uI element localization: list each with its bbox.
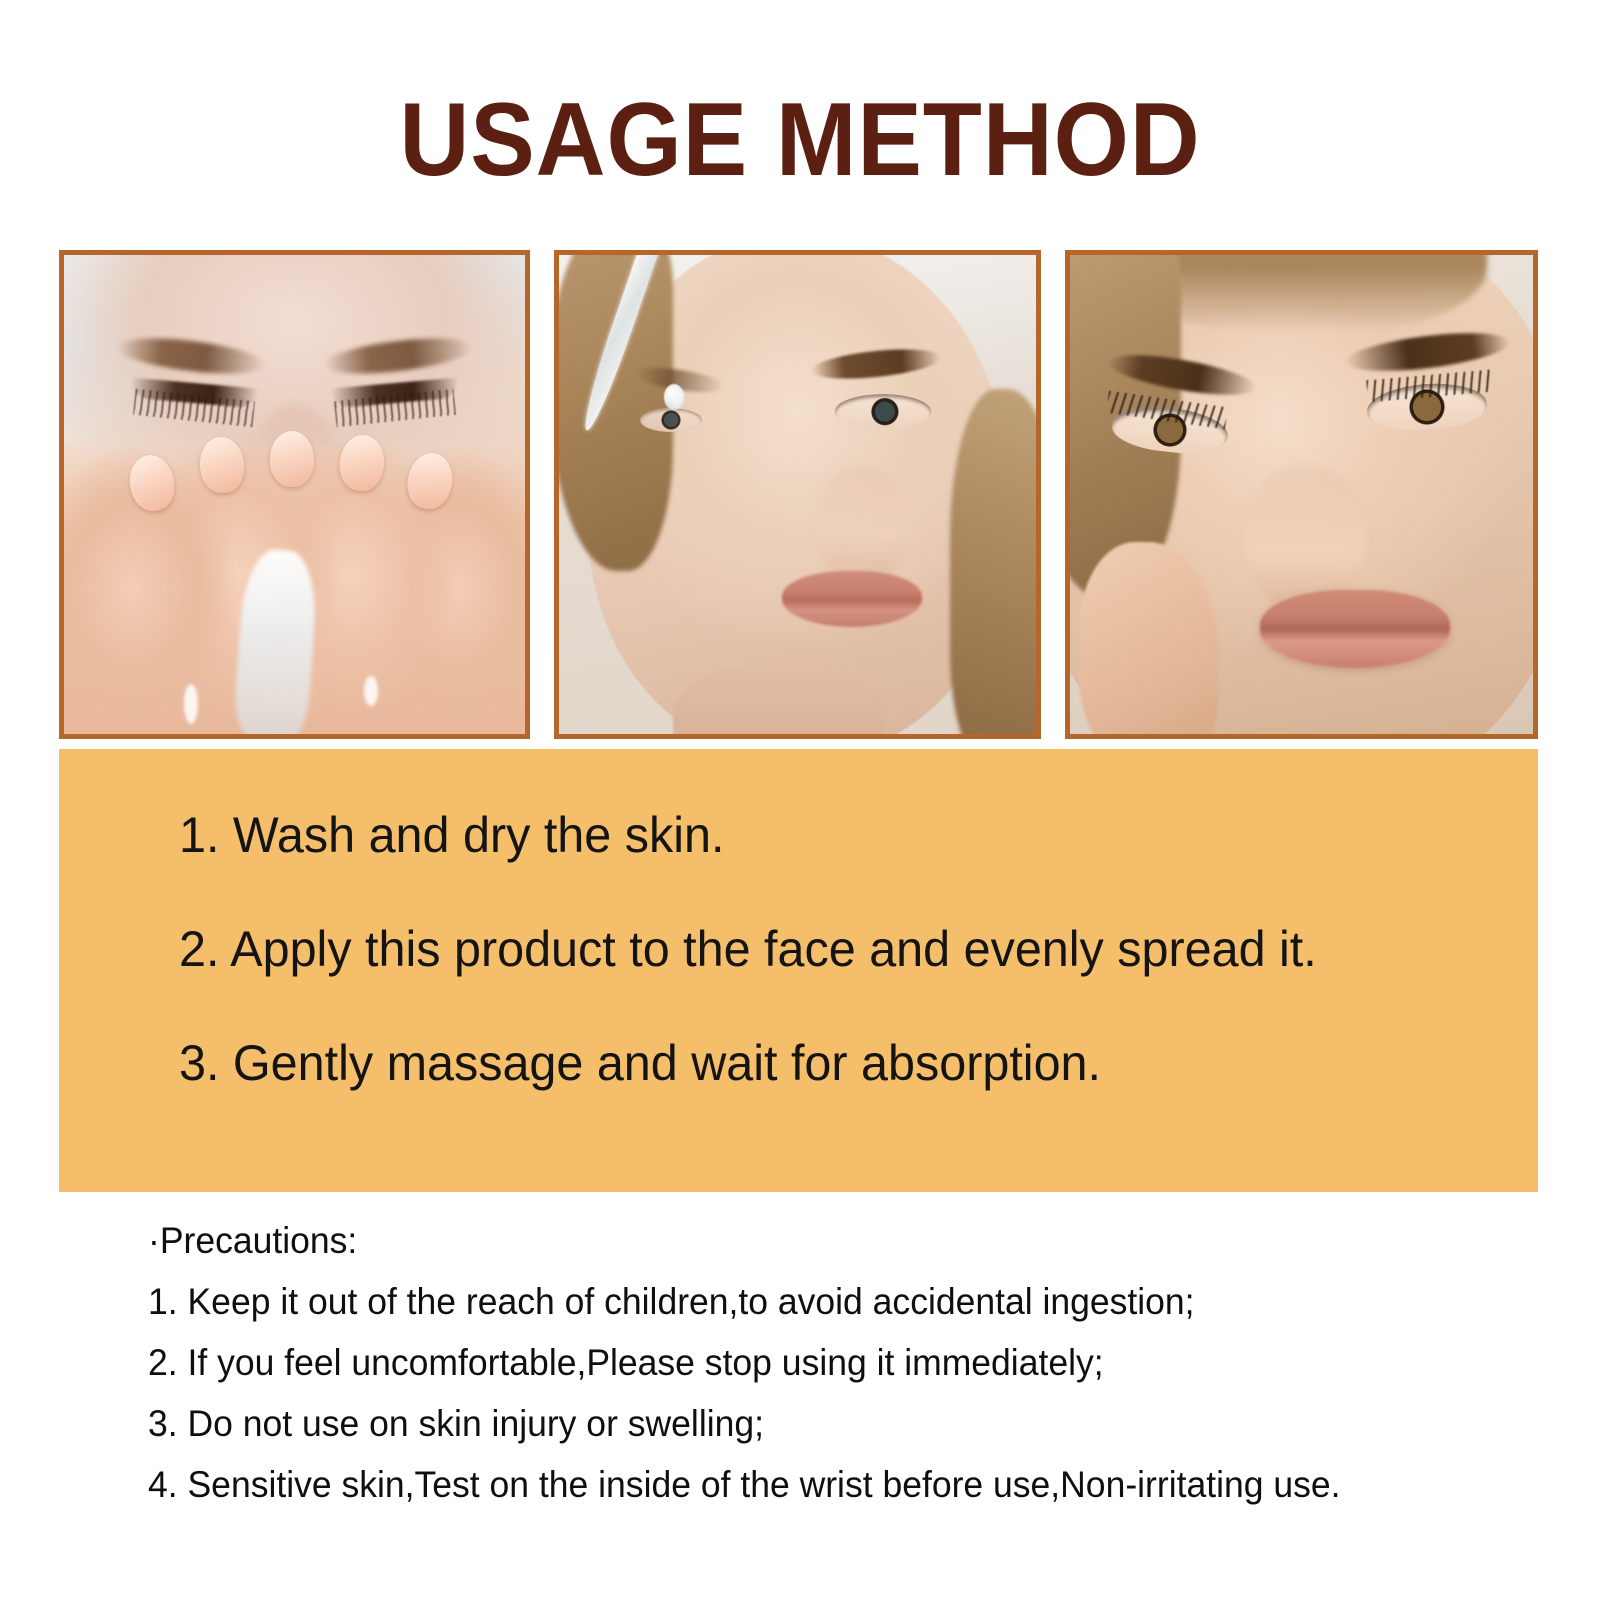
photo-strip [59,250,1538,739]
precautions-heading: ·Precautions: [148,1218,1492,1264]
photo-panel-wash-face [59,250,530,739]
precaution-item-3: 3. Do not use on skin injury or swelling… [148,1401,1492,1447]
precaution-item-4: 4. Sensitive skin,Test on the inside of … [148,1462,1492,1508]
precautions-section: ·Precautions: 1. Keep it out of the reac… [148,1218,1548,1508]
usage-method-page: USAGE METHOD [0,0,1600,1600]
precaution-item-1: 1. Keep it out of the reach of children,… [148,1279,1492,1325]
photo-glowing-skin-illustration [1070,255,1533,734]
usage-step-1: 1. Wash and dry the skin. [179,805,1497,865]
photo-panel-glowing-skin [1065,250,1538,739]
usage-step-3: 3. Gently massage and wait for absorptio… [179,1033,1497,1093]
precaution-item-2: 2. If you feel uncomfortable,Please stop… [148,1340,1492,1386]
usage-steps-block: 1. Wash and dry the skin. 2. Apply this … [59,749,1538,1192]
photo-panel-apply-serum [554,250,1041,739]
usage-step-2: 2. Apply this product to the face and ev… [179,919,1497,979]
photo-wash-face-illustration [64,255,525,734]
page-title: USAGE METHOD [56,84,1544,196]
photo-apply-serum-illustration [559,255,1036,734]
